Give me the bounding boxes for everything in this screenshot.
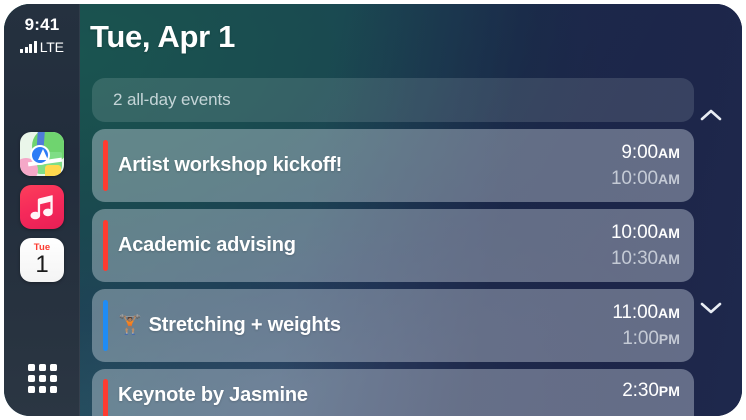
sidebar: 9:41 LTE — [4, 4, 80, 416]
music-note-icon — [29, 193, 55, 221]
event-main: Academic advising — [118, 234, 574, 257]
calendar-content: Tue, Apr 1 2 all-day events Artist works… — [80, 4, 742, 416]
event-card[interactable]: 🏋🏽Stretching + weights11:00AM1:00PM — [92, 289, 694, 362]
event-list: Artist workshop kickoff!9:00AM10:00AMAca… — [92, 129, 694, 416]
all-day-events-row[interactable]: 2 all-day events — [92, 78, 694, 122]
event-start-time: 2:30PM — [550, 378, 680, 404]
app-grid-button[interactable] — [20, 356, 64, 400]
event-calendar-color-bar — [103, 379, 108, 416]
event-start-time: 9:00AM — [550, 140, 680, 166]
grid-dot — [28, 375, 35, 382]
status-network: LTE — [4, 37, 80, 53]
event-title: Keynote by Jasmine — [118, 384, 308, 407]
event-main: 🏋🏽Stretching + weights — [118, 314, 574, 337]
event-times: 10:00AM10:30AM — [550, 220, 680, 272]
page-title: Tue, Apr 1 — [90, 19, 235, 55]
scroll-up-button[interactable] — [694, 100, 728, 128]
event-end-time: 10:00AM — [550, 166, 680, 192]
grid-dot — [28, 364, 35, 371]
event-end-meridiem: AM — [658, 171, 680, 187]
grid-dot — [50, 386, 57, 393]
maps-area2-icon — [45, 165, 61, 176]
event-main: Artist workshop kickoff! — [118, 154, 574, 177]
device-frame: 9:41 LTE — [4, 4, 742, 416]
event-times: 2:30PM — [550, 378, 680, 404]
event-end-time-value: 10:30 — [611, 248, 658, 269]
event-calendar-color-bar — [103, 300, 108, 351]
calendar-icon-day: 1 — [35, 252, 48, 278]
event-start-time: 10:00AM — [550, 220, 680, 246]
grid-dot — [39, 364, 46, 371]
sidebar-item-calendar[interactable]: Tue 1 — [20, 238, 64, 282]
event-end-time-value: 1:00 — [622, 328, 659, 349]
signal-strength-icon — [20, 41, 37, 53]
event-start-meridiem: PM — [659, 383, 680, 399]
grid-dot — [39, 375, 46, 382]
chevron-down-icon — [700, 302, 722, 315]
event-title: Academic advising — [118, 234, 296, 257]
event-start-time-value: 10:00 — [611, 222, 658, 243]
grid-dot — [39, 386, 46, 393]
event-start-time-value: 2:30 — [622, 380, 659, 401]
status-bar: 9:41 LTE — [4, 15, 80, 53]
event-emoji-icon: 🏋🏽 — [118, 315, 142, 337]
event-start-time-value: 9:00 — [621, 142, 658, 163]
event-times: 9:00AM10:00AM — [550, 140, 680, 192]
event-end-meridiem: PM — [659, 331, 680, 347]
event-end-meridiem: AM — [658, 251, 680, 267]
sidebar-item-music[interactable] — [20, 185, 64, 229]
maps-arrow-icon — [38, 149, 48, 160]
scroll-down-button[interactable] — [694, 294, 728, 322]
event-end-time-value: 10:00 — [611, 168, 658, 189]
event-card[interactable]: Artist workshop kickoff!9:00AM10:00AM — [92, 129, 694, 202]
event-times: 11:00AM1:00PM — [550, 300, 680, 352]
event-card[interactable]: Academic advising10:00AM10:30AM — [92, 209, 694, 282]
event-end-time: 1:00PM — [550, 326, 680, 352]
event-start-meridiem: AM — [658, 145, 680, 161]
event-end-time: 10:30AM — [550, 246, 680, 272]
chevron-up-icon — [700, 108, 722, 121]
event-title: Stretching + weights — [149, 314, 341, 337]
grid-dot — [28, 386, 35, 393]
event-calendar-color-bar — [103, 140, 108, 191]
sidebar-app-list: Tue 1 — [4, 132, 80, 282]
network-type-label: LTE — [40, 41, 64, 53]
event-start-meridiem: AM — [658, 225, 680, 241]
event-calendar-color-bar — [103, 220, 108, 271]
status-time: 9:41 — [4, 15, 80, 35]
grid-dot — [50, 375, 57, 382]
event-start-meridiem: AM — [658, 305, 680, 321]
event-card[interactable]: Keynote by Jasmine2:30PM — [92, 369, 694, 416]
grid-dot — [50, 364, 57, 371]
sidebar-item-maps[interactable] — [20, 132, 64, 176]
event-start-time: 11:00AM — [550, 300, 680, 326]
event-title: Artist workshop kickoff! — [118, 154, 342, 177]
all-day-events-label: 2 all-day events — [113, 90, 230, 110]
event-start-time-value: 11:00 — [612, 302, 658, 323]
carplay-screen: 9:41 LTE — [0, 0, 746, 420]
event-main: Keynote by Jasmine — [118, 384, 574, 407]
